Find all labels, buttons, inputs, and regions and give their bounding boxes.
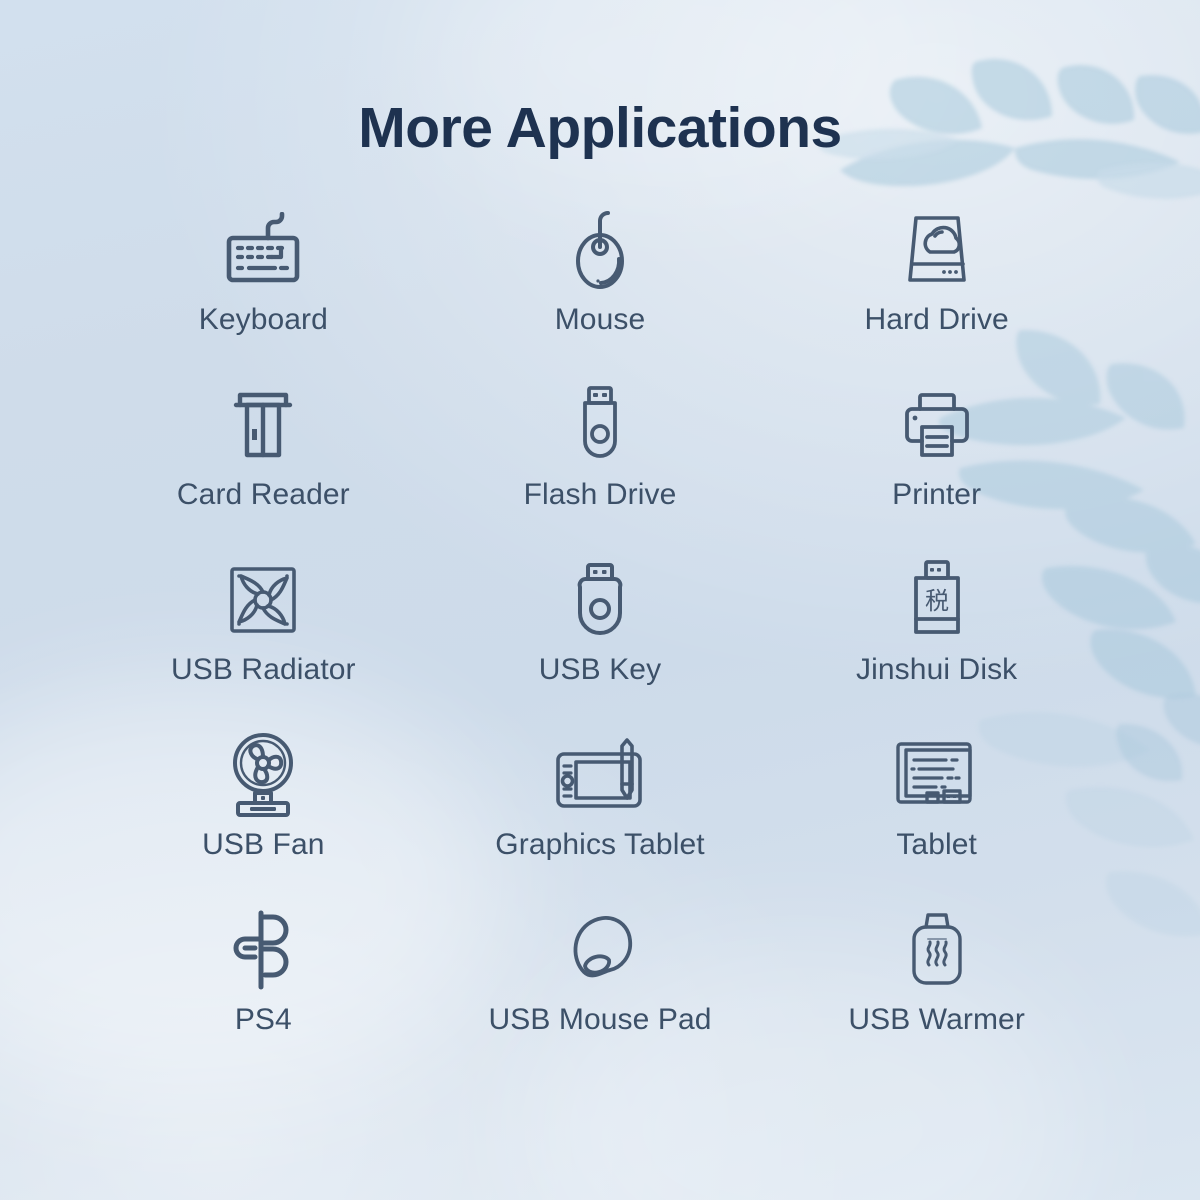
app-label: Mouse [555,303,646,337]
app-item-ps4[interactable]: PS4 [95,907,432,1082]
graphics-tablet-icon [552,732,648,818]
app-label: Printer [892,478,981,512]
keyboard-icon [219,207,307,293]
app-label: USB Fan [202,828,324,862]
app-item-jinshui-disk[interactable]: 税 Jinshui Disk [768,557,1105,732]
app-item-usb-key[interactable]: USB Key [432,557,769,732]
app-label: USB Radiator [171,653,356,687]
app-label: Graphics Tablet [495,828,704,862]
card-reader-icon [228,382,298,468]
usb-fan-icon [224,732,302,818]
app-label: USB Mouse Pad [488,1003,711,1037]
app-label: USB Key [539,653,661,687]
tablet-icon [892,732,982,818]
mouse-icon [568,207,632,293]
app-label: USB Warmer [848,1003,1025,1037]
app-item-card-reader[interactable]: Card Reader [95,382,432,557]
page-title: More Applications [0,0,1200,161]
app-label: Tablet [896,828,977,862]
hard-drive-icon [902,207,972,293]
app-item-hard-drive[interactable]: Hard Drive [768,207,1105,382]
app-item-usb-fan[interactable]: USB Fan [95,732,432,907]
usb-key-icon [570,557,630,643]
app-item-usb-warmer[interactable]: USB Warmer [768,907,1105,1082]
app-label: Jinshui Disk [856,653,1017,687]
app-item-tablet[interactable]: Tablet [768,732,1105,907]
ps4-logo-icon [228,907,298,993]
app-label: Hard Drive [864,303,1008,337]
app-label: Keyboard [199,303,328,337]
app-label: Card Reader [177,478,350,512]
jinshui-character: 税 [925,587,949,615]
app-item-usb-radiator[interactable]: USB Radiator [95,557,432,732]
app-item-mouse[interactable]: Mouse [432,207,769,382]
flash-drive-icon [572,382,628,468]
app-item-keyboard[interactable]: Keyboard [95,207,432,382]
app-item-flash-drive[interactable]: Flash Drive [432,382,769,557]
app-item-printer[interactable]: Printer [768,382,1105,557]
app-label: PS4 [235,1003,292,1037]
usb-mouse-pad-icon [562,907,638,993]
printer-icon [898,382,976,468]
app-item-graphics-tablet[interactable]: Graphics Tablet [432,732,769,907]
jinshui-disk-icon: 税 [906,557,968,643]
app-item-usb-mouse-pad[interactable]: USB Mouse Pad [432,907,769,1082]
usb-warmer-icon [904,907,970,993]
usb-radiator-icon [225,557,301,643]
poster-canvas: More Applications Keyboard [0,0,1200,1200]
app-label: Flash Drive [524,478,677,512]
applications-grid: Keyboard Mouse [95,207,1105,1082]
